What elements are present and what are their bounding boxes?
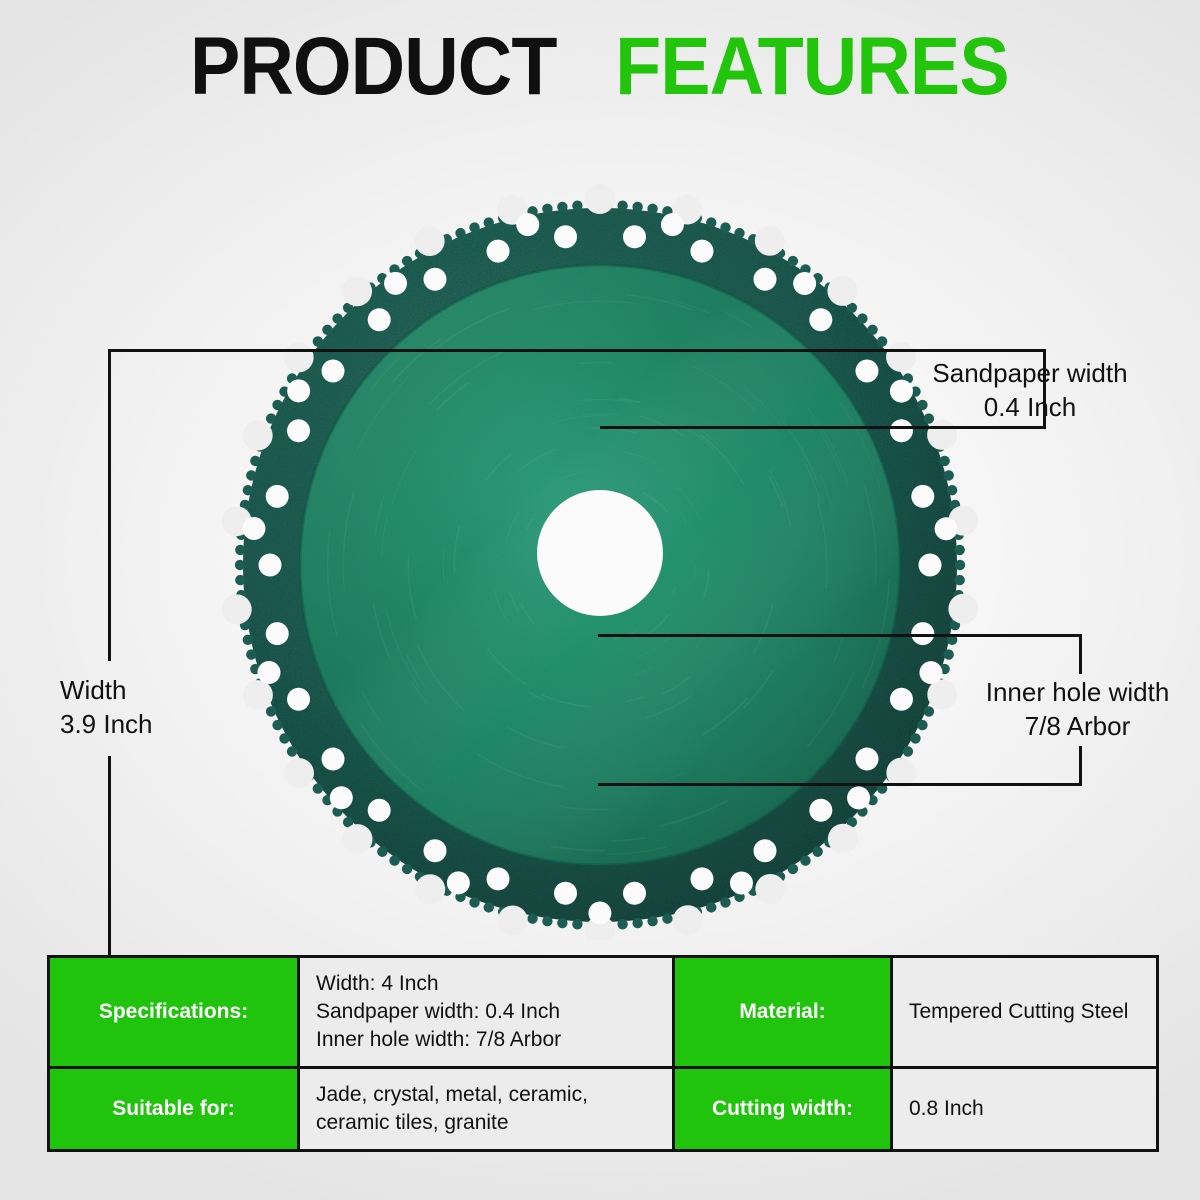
title-word-features: FEATURES bbox=[615, 26, 1009, 108]
saw-blade-image bbox=[0, 150, 1200, 940]
callout-sandpaper-line1: Sandpaper width bbox=[880, 356, 1180, 390]
width-bracket-vertical-upper bbox=[108, 349, 111, 661]
width-bracket-top-arm bbox=[108, 349, 970, 352]
table-row: Specifications: Width: 4 InchSandpaper w… bbox=[49, 957, 1158, 1068]
product-features-infographic: PRODUCTFEATURES bbox=[0, 0, 1200, 1200]
callout-inner-hole-line2: 7/8 Arbor bbox=[955, 709, 1200, 743]
cell-value-suitable-for: Jade, crystal, metal, ceramic, ceramic t… bbox=[299, 1067, 674, 1150]
table-row: Suitable for: Jade, crystal, metal, cera… bbox=[49, 1067, 1158, 1150]
inner-hole-leader-bottom bbox=[598, 783, 1082, 786]
inner-hole-bracket-lower bbox=[1079, 746, 1082, 786]
blade-diagram: Width 3.9 Inch Sandpaper width 0.4 Inch … bbox=[0, 150, 1200, 940]
arbor-hole bbox=[537, 490, 663, 616]
specifications-table: Specifications: Width: 4 InchSandpaper w… bbox=[47, 955, 1159, 1152]
callout-sandpaper-width: Sandpaper width 0.4 Inch bbox=[880, 356, 1180, 425]
saw-blade-svg bbox=[0, 150, 1200, 940]
callout-width-line1: Width bbox=[60, 673, 153, 707]
cell-label-material: Material: bbox=[674, 957, 892, 1068]
cell-value-material: Tempered Cutting Steel bbox=[892, 957, 1158, 1068]
inner-hole-bracket-upper bbox=[1079, 634, 1082, 674]
callout-width-line2: 3.9 Inch bbox=[60, 707, 153, 741]
cell-label-suitable-for: Suitable for: bbox=[49, 1067, 299, 1150]
cell-label-cutting-width: Cutting width: bbox=[674, 1067, 892, 1150]
callout-inner-hole-line1: Inner hole width bbox=[955, 675, 1200, 709]
callout-width: Width 3.9 Inch bbox=[60, 673, 153, 742]
callout-inner-hole-width: Inner hole width 7/8 Arbor bbox=[955, 675, 1200, 744]
inner-hole-leader-top bbox=[598, 634, 1082, 637]
sandpaper-bracket-top-arm bbox=[905, 349, 1046, 352]
callout-sandpaper-line2: 0.4 Inch bbox=[880, 390, 1180, 424]
page-title: PRODUCTFEATURES bbox=[0, 26, 1200, 108]
cell-value-specifications: Width: 4 InchSandpaper width: 0.4 InchIn… bbox=[299, 957, 674, 1068]
title-word-product: PRODUCT bbox=[190, 26, 557, 108]
cell-value-cutting-width: 0.8 Inch bbox=[892, 1067, 1158, 1150]
sandpaper-leader-line bbox=[600, 426, 1046, 429]
cell-label-specifications: Specifications: bbox=[49, 957, 299, 1068]
